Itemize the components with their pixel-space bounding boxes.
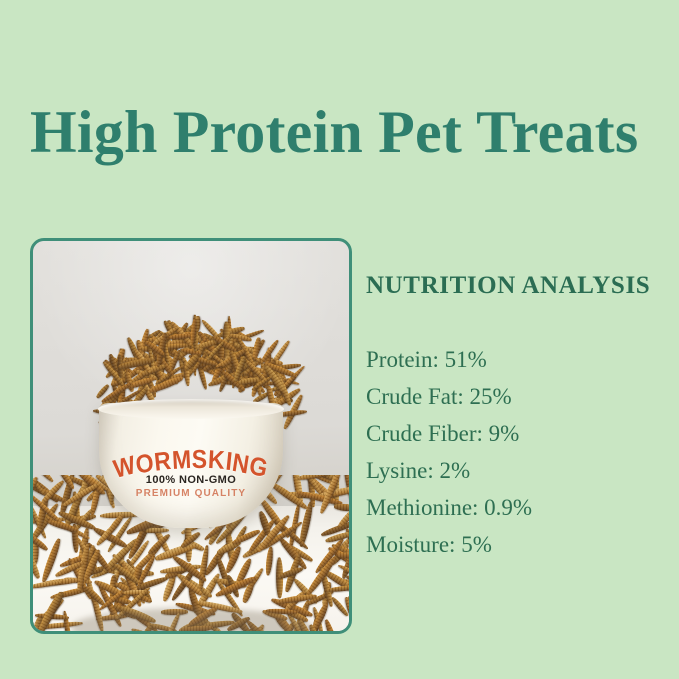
nutrition-item: Crude Fiber: 9%	[366, 415, 666, 452]
mealworm	[334, 503, 349, 512]
product-photo: WORMSKING 100% NON-GMO PREMIUM QUALITY	[33, 241, 349, 631]
nutrition-item: Moisture: 5%	[366, 526, 666, 563]
product-photo-frame: WORMSKING 100% NON-GMO PREMIUM QUALITY	[30, 238, 352, 634]
bowl-rim	[98, 399, 283, 419]
bowl-premium-quality-text: PREMIUM QUALITY	[99, 487, 282, 499]
product-bowl: WORMSKING 100% NON-GMO PREMIUM QUALITY	[99, 403, 282, 528]
mealworm	[264, 546, 273, 575]
page-title: High Protein Pet Treats	[30, 102, 660, 162]
bowl-label: WORMSKING 100% NON-GMO PREMIUM QUALITY	[99, 448, 282, 499]
mealworm	[324, 619, 341, 631]
nutrition-item: Lysine: 2%	[366, 452, 666, 489]
bowl-brand-text: WORMSKING	[99, 446, 282, 472]
product-infographic: High Protein Pet Treats WORMSKING 100% N…	[0, 0, 679, 679]
nutrition-item: Methionine: 0.9%	[366, 489, 666, 526]
nutrition-item: Protein: 51%	[366, 341, 666, 378]
nutrition-list: Protein: 51%Crude Fat: 25%Crude Fiber: 9…	[366, 341, 666, 563]
nutrition-panel: NUTRITION ANALYSIS Protein: 51%Crude Fat…	[366, 272, 666, 563]
nutrition-heading: NUTRITION ANALYSIS	[366, 272, 666, 300]
nutrition-item: Crude Fat: 25%	[366, 378, 666, 415]
mealworm-heap	[96, 311, 286, 412]
